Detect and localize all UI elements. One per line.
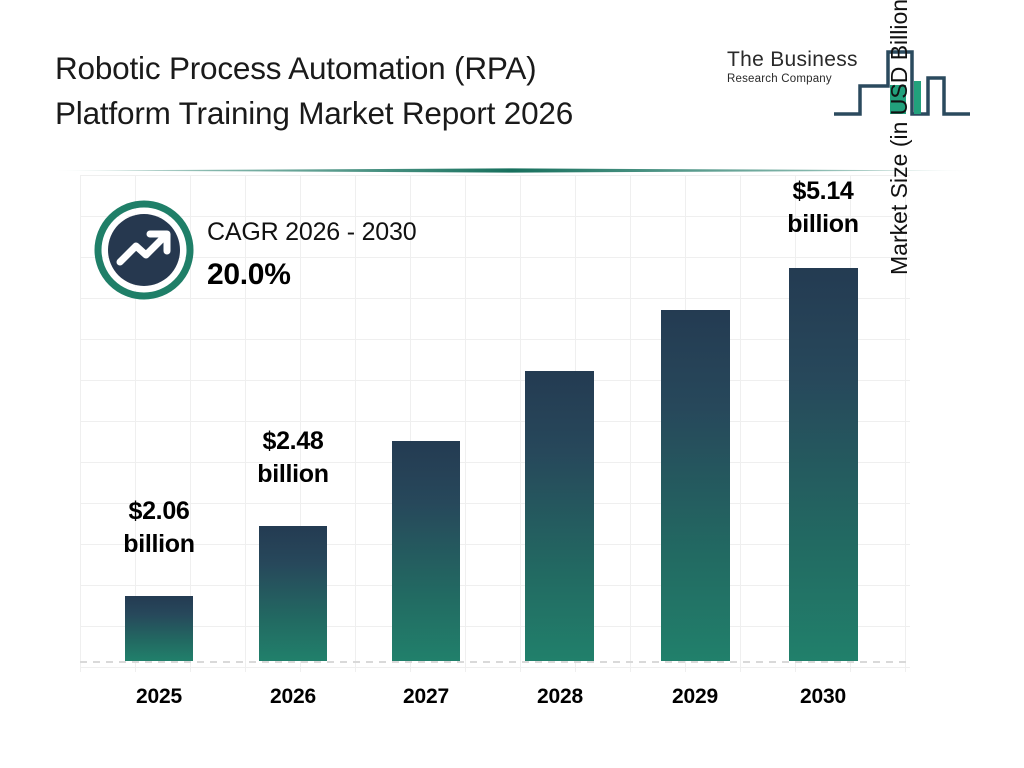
- bar-2029[interactable]: [661, 310, 730, 661]
- gridline-vertical: [630, 175, 631, 672]
- bar-2030[interactable]: [789, 268, 858, 661]
- bar-2026[interactable]: [259, 526, 327, 661]
- chart-page: Robotic Process Automation (RPA) Platfor…: [0, 0, 1024, 768]
- gridline-horizontal: [80, 667, 910, 668]
- y-axis-title: Market Size (in USD Billion): [886, 0, 913, 275]
- bar-2025[interactable]: [125, 596, 193, 661]
- cagr-period-label: CAGR 2026 - 2030: [207, 218, 416, 247]
- gridline-horizontal: [80, 339, 910, 340]
- gridline-horizontal: [80, 626, 910, 627]
- bar-value-label-2026: $2.48 billion: [213, 425, 373, 491]
- bar-2027[interactable]: [392, 441, 460, 661]
- gridline-horizontal: [80, 462, 910, 463]
- x-axis-label-2029: 2029: [635, 685, 755, 709]
- gridline-vertical: [520, 175, 521, 672]
- gridline-horizontal: [80, 421, 910, 422]
- gridline-vertical: [80, 175, 81, 672]
- gridline-horizontal: [80, 380, 910, 381]
- gridline-horizontal: [80, 585, 910, 586]
- trending-up-icon: [94, 200, 194, 305]
- header: Robotic Process Automation (RPA) Platfor…: [0, 0, 1024, 160]
- axis-baseline: [80, 661, 910, 663]
- x-axis-label-2028: 2028: [500, 685, 620, 709]
- bar-value-label-2030: $5.14 billion: [743, 175, 903, 241]
- x-axis-label-2030: 2030: [763, 685, 883, 709]
- cagr-badge: CAGR 2026 - 2030 20.0%: [94, 200, 494, 310]
- x-axis-label-2026: 2026: [233, 685, 353, 709]
- company-logo: The Business Research Company: [727, 38, 972, 130]
- cagr-value: 20.0%: [207, 258, 291, 292]
- x-axis-label-2025: 2025: [99, 685, 219, 709]
- x-axis-label-2027: 2027: [366, 685, 486, 709]
- page-title: Robotic Process Automation (RPA) Platfor…: [55, 46, 715, 136]
- gridline-vertical: [740, 175, 741, 672]
- bar-2028[interactable]: [525, 371, 594, 661]
- bar-value-label-2025: $2.06 billion: [79, 495, 239, 561]
